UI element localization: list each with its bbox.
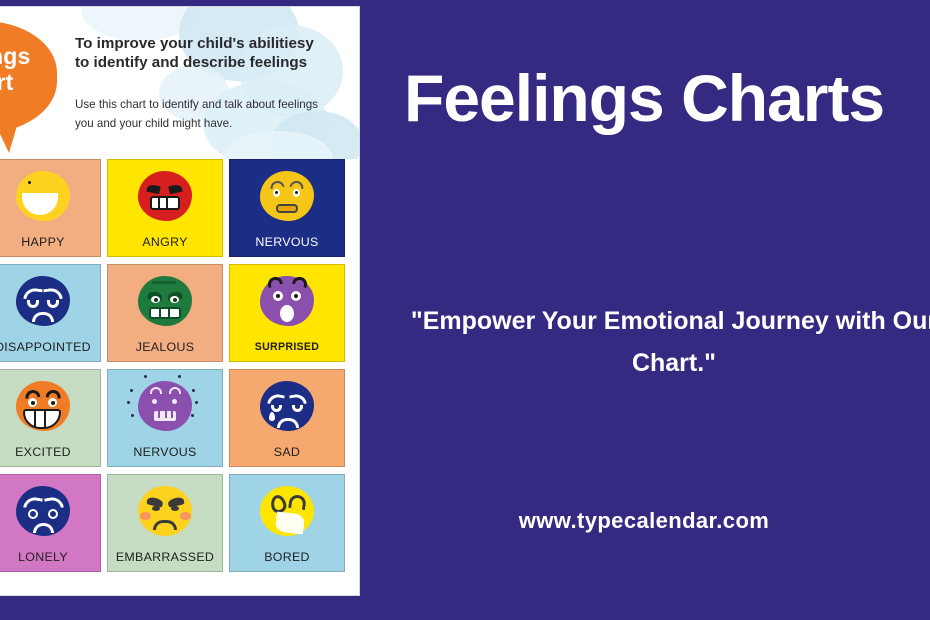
worried-brow-icon xyxy=(269,180,284,189)
tooth-gap-icon xyxy=(158,411,160,418)
closed-eye-icon xyxy=(271,405,282,412)
document-header: Feelings Chart To improve your child's a… xyxy=(0,7,359,159)
nervous-dot-icon xyxy=(191,414,194,417)
tear-icon xyxy=(269,412,275,421)
emotion-face-icon xyxy=(138,381,192,431)
pupil-icon xyxy=(294,294,298,298)
eye-icon xyxy=(171,506,179,511)
hair-icon xyxy=(152,281,176,284)
emotion-label: ANGRY xyxy=(108,235,222,249)
blush-icon xyxy=(140,512,151,520)
droopy-eye-icon xyxy=(288,494,307,510)
emotion-face-icon xyxy=(138,486,192,536)
emotion-card-jealous[interactable]: JEALOUS xyxy=(107,264,223,362)
teeth-line-icon xyxy=(166,196,168,210)
nervous-dot-icon xyxy=(130,389,133,392)
nervous-dot-icon xyxy=(178,375,181,378)
document-headline: To improve your child's abilitiesy to id… xyxy=(75,35,323,72)
emotion-face-wrap xyxy=(134,482,196,540)
screenshot-root: Feelings Chart To improve your child's a… xyxy=(0,0,930,620)
frown-mouth-icon xyxy=(153,520,177,530)
eye-icon xyxy=(48,509,58,519)
emotion-face-icon xyxy=(16,276,70,326)
frown-mouth-icon xyxy=(32,312,54,322)
teeth-line-icon xyxy=(44,409,46,427)
emotion-card-happy[interactable]: HAPPY xyxy=(0,159,101,257)
emotion-card-lonely[interactable]: LONELY xyxy=(0,474,101,572)
emotion-face-icon xyxy=(16,486,70,536)
emotion-face-icon xyxy=(138,171,192,221)
emotion-face-wrap xyxy=(256,167,318,225)
emotion-face-icon xyxy=(260,276,314,326)
emotion-card-sad[interactable]: SAD xyxy=(229,369,345,467)
emotion-face-icon xyxy=(260,381,314,431)
emotion-label: SAD xyxy=(230,445,344,459)
sweat-brow-icon xyxy=(169,387,181,394)
emotion-label: NERVOUS xyxy=(108,445,222,459)
emotion-face-wrap xyxy=(12,482,74,540)
document-subtext: Use this chart to identify and talk abou… xyxy=(75,95,325,133)
nervous-dot-icon xyxy=(131,414,134,417)
frown-mouth-icon xyxy=(33,523,54,533)
emotion-label: EMBARRASSED xyxy=(108,550,222,564)
emotion-face-icon xyxy=(16,381,70,431)
raised-brow-icon xyxy=(266,275,283,288)
emotion-card-excited[interactable]: EXCITED xyxy=(0,369,101,467)
page-title: Feelings Charts xyxy=(404,58,930,138)
nervous-dot-icon xyxy=(195,401,198,404)
website-url: www.typecalendar.com xyxy=(358,508,930,534)
emotion-label: EXCITED xyxy=(0,445,100,459)
pupil-icon xyxy=(31,401,35,405)
teeth-line-icon xyxy=(168,307,170,319)
teeth-mouth-icon xyxy=(150,196,180,210)
promo-panel: Feelings Charts "Empower Your Emotional … xyxy=(358,0,930,620)
blush-icon xyxy=(180,512,191,520)
raised-brow-icon xyxy=(292,275,309,288)
closed-eye-icon xyxy=(27,300,39,308)
eye-icon xyxy=(152,399,157,404)
worried-brow-icon xyxy=(289,180,304,189)
grimace-mouth-icon xyxy=(149,307,181,319)
emotion-face-wrap xyxy=(256,482,318,540)
emotion-face-wrap xyxy=(12,167,74,225)
emotion-face-wrap xyxy=(256,272,318,330)
emotion-label: JEALOUS xyxy=(108,340,222,354)
wavy-mouth-icon xyxy=(276,204,298,213)
pupil-icon xyxy=(154,298,158,302)
feelings-chart-document[interactable]: Feelings Chart To improve your child's a… xyxy=(0,6,360,596)
speech-bubble-title: Feelings Chart xyxy=(0,43,57,95)
teeth-line-icon xyxy=(159,307,161,319)
tooth-gap-icon xyxy=(165,411,167,418)
nervous-dot-icon xyxy=(127,401,130,404)
nervous-dot-icon xyxy=(192,389,195,392)
emotion-card-embarrassed[interactable]: EMBARRASSED xyxy=(107,474,223,572)
emotion-label: NERVOUS xyxy=(230,235,344,249)
emotion-face-wrap xyxy=(134,272,196,330)
emotion-face-icon xyxy=(16,171,70,221)
angry-brow-icon xyxy=(146,184,160,195)
sweat-brow-icon xyxy=(150,387,162,394)
emotion-card-nervous[interactable]: NERVOUS xyxy=(107,369,223,467)
emotion-face-wrap xyxy=(134,167,196,225)
emotion-face-wrap xyxy=(12,272,74,330)
frown-mouth-icon xyxy=(277,418,299,428)
closed-eye-icon xyxy=(292,405,303,412)
emotion-face-icon xyxy=(260,486,314,536)
tooth-gap-icon xyxy=(171,411,173,418)
emotion-label: BORED xyxy=(230,550,344,564)
emotion-card-angry[interactable]: ANGRY xyxy=(107,159,223,257)
nervous-dot-icon xyxy=(144,375,147,378)
emotion-label: DISAPPOINTED xyxy=(0,340,100,354)
emotion-card-nervous[interactable]: NERVOUS xyxy=(229,159,345,257)
open-mouth-icon xyxy=(280,305,294,322)
teeth-line-icon xyxy=(158,196,160,210)
speech-bubble-tail-icon xyxy=(0,119,19,153)
pupil-icon xyxy=(51,401,55,405)
emotion-face-wrap xyxy=(12,377,74,435)
pupil-icon xyxy=(276,294,280,298)
promo-tagline: "Empower Your Emotional Journey with Our… xyxy=(376,300,930,384)
eye-icon xyxy=(172,399,177,404)
teeth-line-icon xyxy=(34,409,36,427)
emotion-card-disappointed[interactable]: DISAPPOINTED xyxy=(0,264,101,362)
eye-icon xyxy=(28,509,38,519)
pupil-icon xyxy=(275,191,278,194)
emotion-face-wrap xyxy=(256,377,318,435)
yawn-mouth-icon xyxy=(275,512,305,535)
big-grin-mouth-icon xyxy=(23,409,61,429)
smile-mouth-icon xyxy=(22,193,58,215)
emotion-face-icon xyxy=(260,171,314,221)
eye-icon xyxy=(152,506,160,511)
closed-eye-icon xyxy=(47,300,59,308)
emotion-card-bored[interactable]: BORED xyxy=(229,474,345,572)
emotion-label: HAPPY xyxy=(0,235,100,249)
emotion-label: LONELY xyxy=(0,550,100,564)
pupil-icon xyxy=(173,298,177,302)
pupil-icon xyxy=(295,191,298,194)
emotion-face-wrap xyxy=(134,377,196,435)
emotion-card-grid: HAPPYANGRYNERVOUSDISAPPOINTEDJEALOUSSURP… xyxy=(0,159,360,572)
emotion-card-surprised[interactable]: SURPRISED xyxy=(229,264,345,362)
eye-icon xyxy=(28,181,31,184)
emotion-face-icon xyxy=(138,276,192,326)
emotion-label: SURPRISED xyxy=(230,340,344,354)
angry-brow-icon xyxy=(168,184,182,195)
